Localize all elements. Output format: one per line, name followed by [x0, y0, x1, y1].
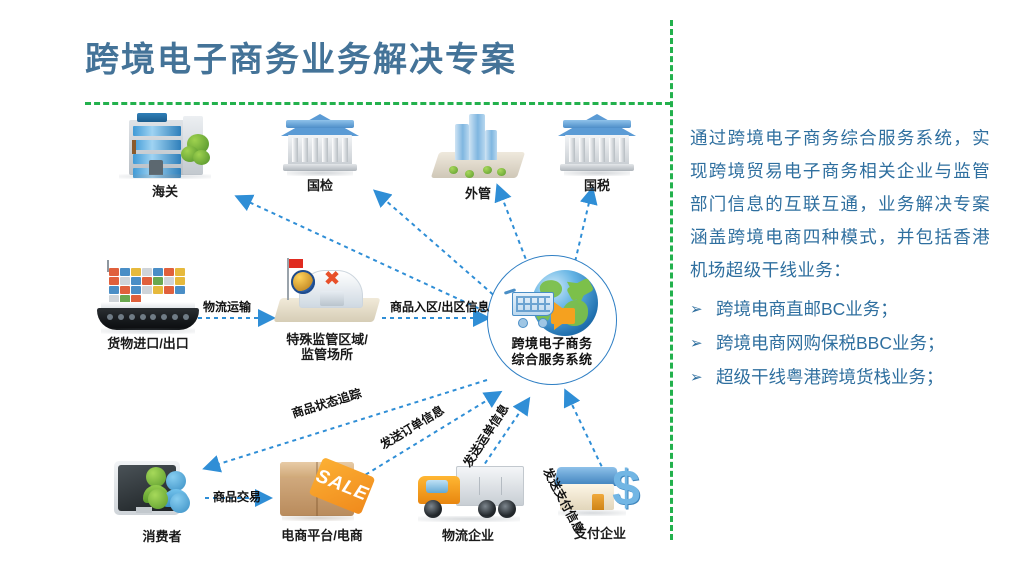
- bank-building-icon: [281, 114, 359, 176]
- node-label: 国检: [270, 178, 370, 193]
- node-label: 货物进口/出口: [88, 336, 208, 351]
- slide-canvas: 跨境电子商务业务解决专案 通过跨境电子商务综合服务系统，实现跨境贸易电子商务相关…: [0, 0, 1020, 575]
- node-label: 海关: [110, 184, 220, 199]
- edge-label-zone-info: 商品入区/出区信息: [390, 298, 489, 315]
- node-label: 物流企业: [406, 528, 530, 543]
- node-label: 特殊监管区域/ 监管场所: [272, 332, 382, 362]
- bullet-arrow-icon: ➢: [690, 327, 704, 360]
- hub-node[interactable]: 跨境电子商务 综合服务系统: [487, 255, 617, 385]
- node-label: 外管: [430, 186, 526, 201]
- orange-arrow-icon: [554, 302, 573, 330]
- bonded-warehouse-icon: ✖: [277, 258, 377, 330]
- node-forex[interactable]: 外管: [430, 118, 526, 201]
- divider-vertical: [670, 20, 673, 540]
- node-logistics[interactable]: 物流企业: [406, 458, 530, 543]
- hub-label-line2: 综合服务系统: [511, 352, 592, 367]
- shopping-cart-icon: [504, 292, 556, 332]
- node-customs[interactable]: 海关: [110, 112, 220, 199]
- edge-label-transport: 物流运输: [203, 298, 251, 315]
- node-label-line1: 特殊监管区域/: [286, 332, 368, 347]
- list-item: ➢ 超级干线粤港跨境货栈业务；: [690, 361, 990, 394]
- node-label-line2: 监管场所: [301, 347, 353, 362]
- bullet-arrow-icon: ➢: [690, 293, 704, 326]
- list-item-label: 跨境电商网购保税BBC业务；: [716, 327, 990, 360]
- edge-label-trade: 商品交易: [213, 488, 261, 505]
- delivery-truck-icon: [412, 458, 524, 526]
- node-label: 国税: [552, 178, 642, 193]
- list-item-label: 跨境电商直邮BC业务；: [716, 293, 990, 326]
- node-label: 消费者: [107, 529, 217, 544]
- description-panel: 通过跨境电子商务综合服务系统，实现跨境贸易电子商务相关企业与监管部门信息的互联互…: [690, 122, 990, 395]
- description-paragraph: 通过跨境电子商务综合服务系统，实现跨境贸易电子商务相关企业与监管部门信息的互联互…: [690, 122, 990, 287]
- node-consumer[interactable]: 消费者: [107, 455, 217, 544]
- bank-building-icon: [558, 114, 636, 176]
- list-item: ➢ 跨境电商网购保税BBC业务；: [690, 327, 990, 360]
- office-building-icon: [119, 112, 211, 182]
- hub-label: 跨境电子商务 综合服务系统: [488, 336, 616, 368]
- city-towers-icon: [435, 118, 521, 184]
- node-inspection[interactable]: 国检: [270, 114, 370, 193]
- bullet-arrow-icon: ➢: [690, 361, 704, 394]
- node-label: 支付企业: [548, 526, 652, 541]
- sale-carton-icon: SALE: [274, 452, 370, 526]
- node-supervision[interactable]: ✖ 特殊监管区域/ 监管场所: [268, 258, 386, 362]
- hub-label-line1: 跨境电子商务: [511, 336, 592, 351]
- feature-list: ➢ 跨境电商直邮BC业务； ➢ 跨境电商网购保税BBC业务； ➢ 超级干线粤港跨…: [690, 293, 990, 394]
- node-label: 电商平台/电商: [262, 528, 382, 543]
- node-goods[interactable]: 货物进口/出口: [88, 258, 208, 351]
- list-item-label: 超级干线粤港跨境货栈业务；: [716, 361, 990, 394]
- node-tax[interactable]: 国税: [552, 114, 642, 193]
- container-ship-icon: [93, 258, 203, 334]
- node-platform[interactable]: SALE 电商平台/电商: [262, 452, 382, 543]
- consumer-monitor-icon: [114, 455, 210, 527]
- list-item: ➢ 跨境电商直邮BC业务；: [690, 293, 990, 326]
- page-title: 跨境电子商务业务解决专案: [85, 42, 645, 79]
- diagram-area: 海关 国检 外管 国税: [0, 100, 670, 575]
